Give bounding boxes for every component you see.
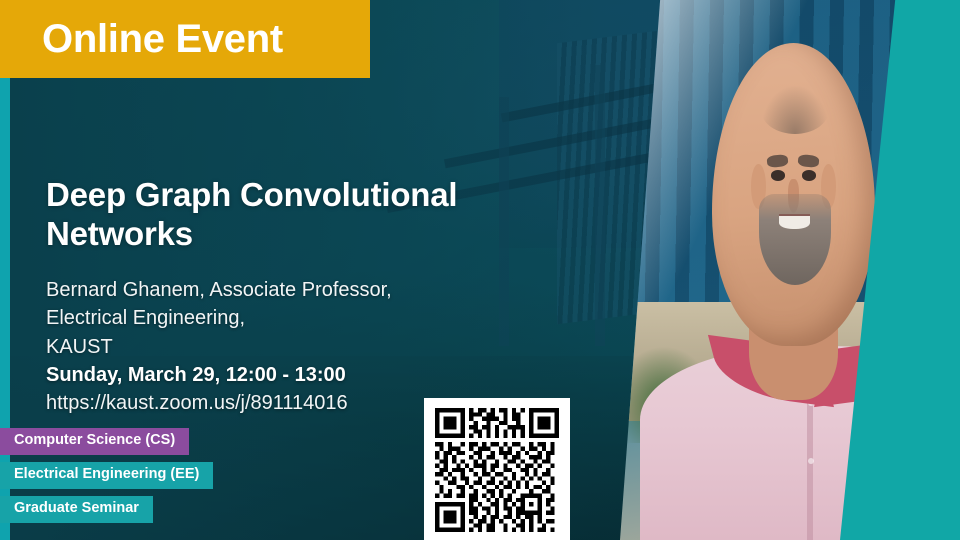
qr-code-graphic <box>435 408 559 532</box>
portrait-eye-left <box>771 170 786 181</box>
online-event-label: Online Event <box>42 19 283 59</box>
tag-graduate-seminar[interactable]: Graduate Seminar <box>0 496 153 523</box>
qr-code[interactable] <box>424 398 570 540</box>
portrait-eyebrow-left <box>767 154 789 168</box>
portrait-eye-right <box>802 170 817 181</box>
event-title: Deep Graph Convolutional Networks <box>46 176 516 254</box>
shirt-button <box>808 458 814 464</box>
topic-tags: Computer Science (CS) Electrical Enginee… <box>0 428 213 530</box>
event-details: Deep Graph Convolutional Networks Bernar… <box>46 176 516 418</box>
portrait-eyebrow-right <box>798 154 820 168</box>
event-datetime: Sunday, March 29, 12:00 - 13:00 <box>46 361 516 389</box>
tag-computer-science[interactable]: Computer Science (CS) <box>0 428 189 455</box>
tag-row: Graduate Seminar <box>0 496 213 523</box>
tag-row: Electrical Engineering (EE) <box>0 462 213 489</box>
speaker-name: Bernard Ghanem, Associate Professor, <box>46 276 516 304</box>
portrait-mouth <box>779 216 810 230</box>
portrait-beard <box>759 194 831 285</box>
tag-electrical-engineering[interactable]: Electrical Engineering (EE) <box>0 462 213 489</box>
speaker-department: Electrical Engineering, <box>46 304 516 332</box>
tag-row: Computer Science (CS) <box>0 428 213 455</box>
event-poster: Online Event Deep Graph Convolutional Ne… <box>0 0 960 540</box>
online-event-banner: Online Event <box>0 0 370 78</box>
portrait-hairline <box>761 86 830 134</box>
speaker-institution: KAUST <box>46 333 516 361</box>
event-meta: Bernard Ghanem, Associate Professor, Ele… <box>46 276 516 418</box>
